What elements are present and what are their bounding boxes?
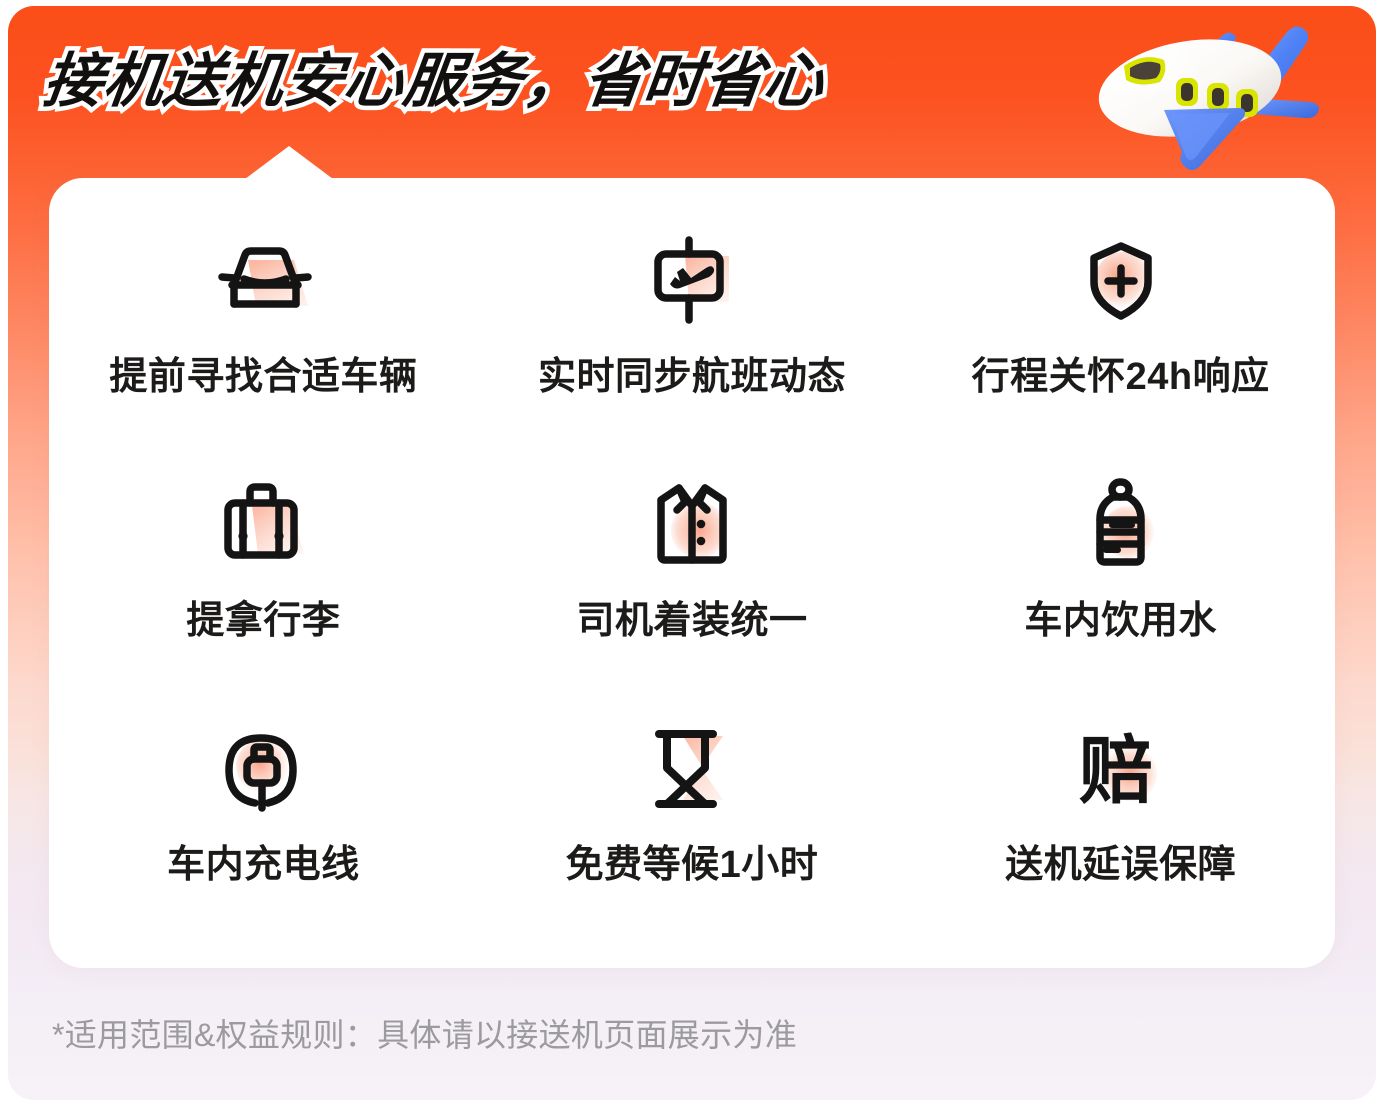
airplane-3d-illustration	[1072, 16, 1342, 176]
feature-item[interactable]: 实时同步航班动态	[478, 226, 907, 470]
terms-note: *适用范围&权益规则：具体请以接送机页面展示为准	[52, 1014, 797, 1056]
features-card: 提前寻找合适车辆	[49, 178, 1335, 968]
flight-board-icon	[637, 226, 747, 334]
feature-label: 免费等候1小时	[566, 842, 819, 888]
feature-label: 司机着装统一	[576, 598, 807, 644]
usb-charging-cable-icon	[208, 714, 318, 822]
folded-shirt-icon	[637, 470, 747, 578]
compensation-char-icon: 赔	[1066, 714, 1176, 822]
feature-label: 送机延误保障	[1005, 842, 1236, 888]
feature-label: 行程关怀24h响应	[972, 354, 1270, 400]
feature-item[interactable]: 免费等候1小时	[478, 714, 907, 958]
shield-plus-icon	[1066, 226, 1176, 334]
feature-label: 提拿行李	[186, 598, 340, 644]
feature-item[interactable]: 提前寻找合适车辆	[49, 226, 478, 470]
feature-item[interactable]: 提拿行李	[49, 470, 478, 714]
features-grid: 提前寻找合适车辆	[49, 226, 1335, 958]
feature-item[interactable]: 行程关怀24h响应	[906, 226, 1335, 470]
hourglass-icon	[637, 714, 747, 822]
banner-panel: 接机送机安心服务，省时省心	[8, 6, 1376, 1100]
car-front-icon	[208, 226, 318, 334]
feature-item[interactable]: 车内饮用水	[906, 470, 1335, 714]
feature-item[interactable]: 司机着装统一	[478, 470, 907, 714]
promo-banner-root: 接机送机安心服务，省时省心	[0, 0, 1384, 1106]
water-bottle-icon	[1066, 470, 1176, 578]
svg-text:赔: 赔	[1079, 729, 1153, 812]
page-title: 接机送机安心服务，省时省心	[39, 44, 828, 118]
feature-label: 实时同步航班动态	[538, 354, 846, 400]
feature-label: 车内充电线	[167, 842, 360, 888]
feature-label: 车内饮用水	[1024, 598, 1217, 644]
feature-label: 提前寻找合适车辆	[109, 354, 417, 400]
banner-header: 接机送机安心服务，省时省心	[8, 6, 1376, 186]
feature-item[interactable]: 赔 送机延误保障	[906, 714, 1335, 958]
feature-item[interactable]: 车内充电线	[49, 714, 478, 958]
suitcase-icon	[208, 470, 318, 578]
